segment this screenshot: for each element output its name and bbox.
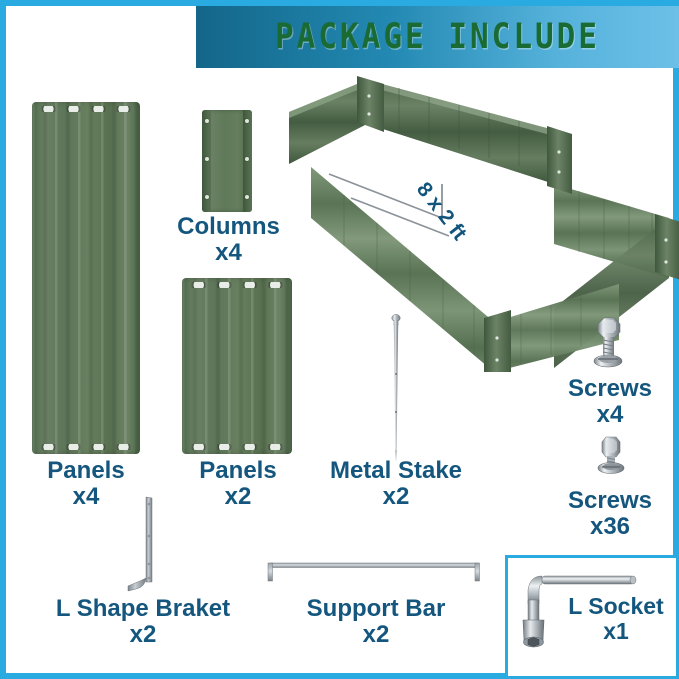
column-screw-hole: [245, 195, 249, 199]
part-image-metal-stake: [386, 312, 406, 462]
part-name-columns: Columns: [177, 213, 280, 240]
part-qty-screws-small: x36: [546, 514, 674, 540]
column-screw-hole: [205, 119, 209, 123]
column-screw-hole: [245, 157, 249, 161]
part-label-support-bar: Support Bar x2: [270, 596, 482, 648]
part-name-screws-small: Screws: [568, 487, 652, 514]
part-qty-panels-small: x2: [166, 484, 310, 510]
column-screw-hole: [245, 119, 249, 123]
header-banner: PACKAGE INCLUDE: [196, 6, 679, 68]
part-image-l-bracket: [118, 494, 170, 594]
part-image-screws-small: [590, 434, 632, 480]
part-label-screws-small: Screws x36: [546, 488, 674, 540]
part-name-support-bar: Support Bar: [307, 595, 446, 622]
part-qty-support-bar: x2: [270, 622, 482, 648]
part-name-l-bracket: L Shape Braket: [56, 595, 230, 622]
part-qty-columns: x4: [156, 240, 301, 266]
part-image-panels-large: [32, 102, 140, 454]
part-label-l-socket: L Socket x1: [564, 594, 668, 645]
part-name-panels-large: Panels: [47, 457, 124, 484]
part-qty-l-socket: x1: [603, 618, 629, 644]
part-name-panels-small: Panels: [199, 457, 276, 484]
part-qty-screws-bolt: x4: [546, 402, 674, 428]
l-socket-box: L Socket x1: [505, 555, 679, 679]
column-screw-hole: [205, 157, 209, 161]
package-include-infographic: PACKAGE INCLUDE Panels x4 Columns x4 Pan…: [0, 0, 679, 679]
part-label-columns: Columns x4: [156, 214, 301, 266]
part-label-panels-small: Panels x2: [166, 458, 310, 510]
part-name-screws-bolt: Screws: [568, 375, 652, 402]
part-qty-l-bracket: x2: [20, 622, 266, 648]
part-image-panels-small: [182, 278, 292, 454]
part-image-support-bar: [264, 558, 484, 586]
bed-corner-post: [655, 214, 679, 280]
part-label-screws-bolt: Screws x4: [546, 376, 674, 428]
page-title: PACKAGE INCLUDE: [196, 2, 679, 71]
part-image-columns: [202, 110, 252, 212]
part-image-screws-bolt: [584, 314, 630, 374]
part-name-l-socket: L Socket: [568, 593, 663, 619]
part-label-l-bracket: L Shape Braket x2: [20, 596, 266, 648]
bed-corner-post: [484, 310, 511, 372]
part-qty-metal-stake: x2: [312, 484, 480, 510]
part-label-metal-stake: Metal Stake x2: [312, 458, 480, 510]
column-screw-hole: [205, 195, 209, 199]
bed-corner-post: [547, 126, 572, 194]
part-name-metal-stake: Metal Stake: [330, 457, 462, 484]
